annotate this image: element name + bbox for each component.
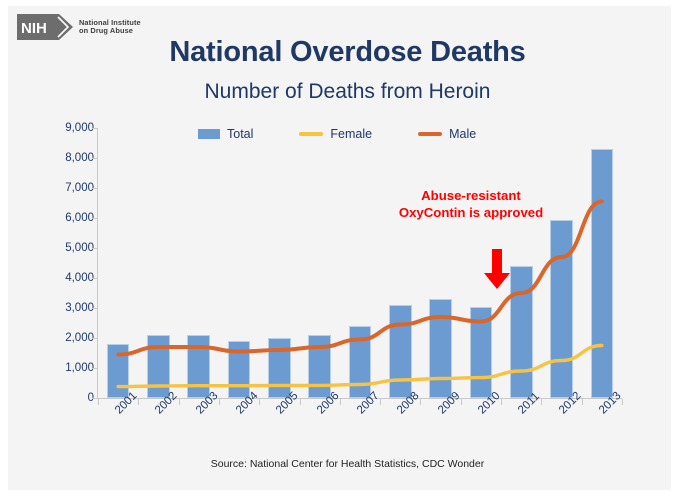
- x-axis-tick-mark: [179, 399, 180, 405]
- annotation-text: Abuse-resistant OxyContin is approved: [376, 188, 566, 222]
- y-axis-tick-label: 3,000: [40, 302, 94, 314]
- y-axis-tick-label: 8,000: [40, 152, 94, 164]
- y-axis-tick-label: 4,000: [40, 272, 94, 284]
- x-axis-tick-mark: [622, 399, 623, 405]
- y-axis-tick-label: 6,000: [40, 212, 94, 224]
- y-axis: 01,0002,0003,0004,0005,0006,0007,0008,00…: [36, 128, 94, 398]
- annotation-line1: Abuse-resistant: [376, 188, 566, 205]
- slide-canvas: NIH National Institute on Drug Abuse Nat…: [0, 0, 679, 496]
- page-title: National Overdose Deaths: [8, 36, 671, 69]
- x-axis-tick-mark: [259, 399, 260, 405]
- down-arrow-icon: [484, 249, 510, 289]
- x-axis-tick-mark: [98, 399, 99, 405]
- x-axis-tick-mark: [380, 399, 381, 405]
- chart-panel: NIH National Institute on Drug Abuse Nat…: [8, 6, 671, 490]
- x-axis-tick-mark: [501, 399, 502, 405]
- y-axis-tick-label: 9,000: [40, 122, 94, 134]
- line-series-male: [118, 202, 602, 355]
- page-subtitle: Number of Deaths from Heroin: [8, 80, 671, 104]
- y-axis-tick-label: 1,000: [40, 362, 94, 374]
- nih-logo-text: National Institute on Drug Abuse: [79, 19, 141, 36]
- y-axis-tick-label: 0: [40, 392, 94, 404]
- y-axis-tick-label: 7,000: [40, 182, 94, 194]
- annotation-line2: OxyContin is approved: [376, 205, 566, 222]
- nih-logo-line2: on Drug Abuse: [79, 27, 141, 35]
- line-series-layer: [98, 128, 622, 398]
- x-axis-tick-mark: [138, 399, 139, 405]
- line-series-female: [118, 346, 602, 387]
- x-axis-tick-mark: [420, 399, 421, 405]
- x-axis-tick-mark: [541, 399, 542, 405]
- overdose-deaths-chart: 01,0002,0003,0004,0005,0006,0007,0008,00…: [36, 116, 656, 456]
- y-axis-tick-label: 5,000: [40, 242, 94, 254]
- svg-text:NIH: NIH: [21, 20, 47, 37]
- x-axis-tick-mark: [300, 399, 301, 405]
- source-caption: Source: National Center for Health Stati…: [8, 458, 671, 470]
- y-axis-tick-label: 2,000: [40, 332, 94, 344]
